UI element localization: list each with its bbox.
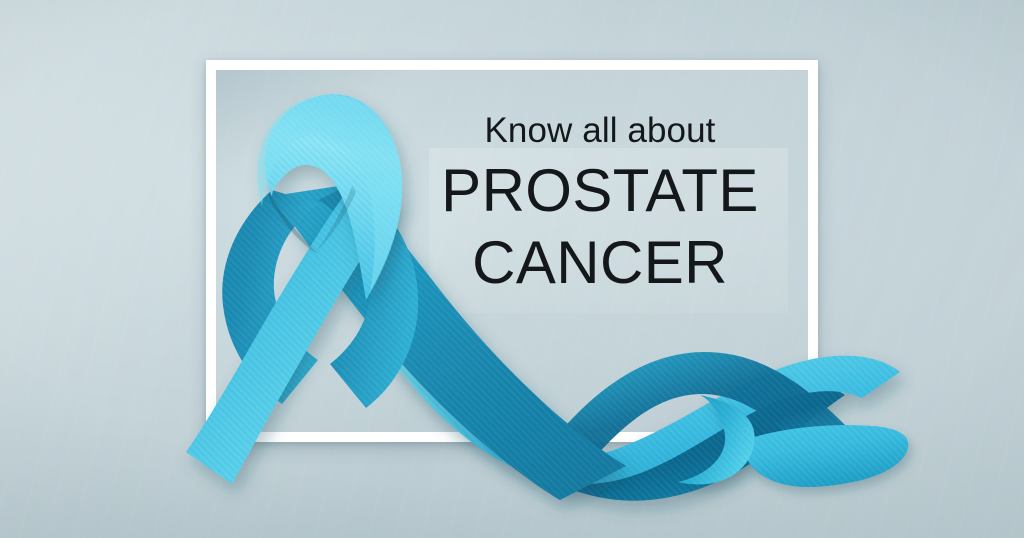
headline-kicker: Know all about bbox=[400, 108, 800, 154]
headline-block: Know all about PROSTATE CANCER bbox=[400, 108, 800, 298]
headline-line-2: CANCER bbox=[400, 228, 800, 298]
poster-canvas: Know all about PROSTATE CANCER bbox=[0, 0, 1024, 538]
headline-line-1: PROSTATE bbox=[400, 154, 800, 228]
